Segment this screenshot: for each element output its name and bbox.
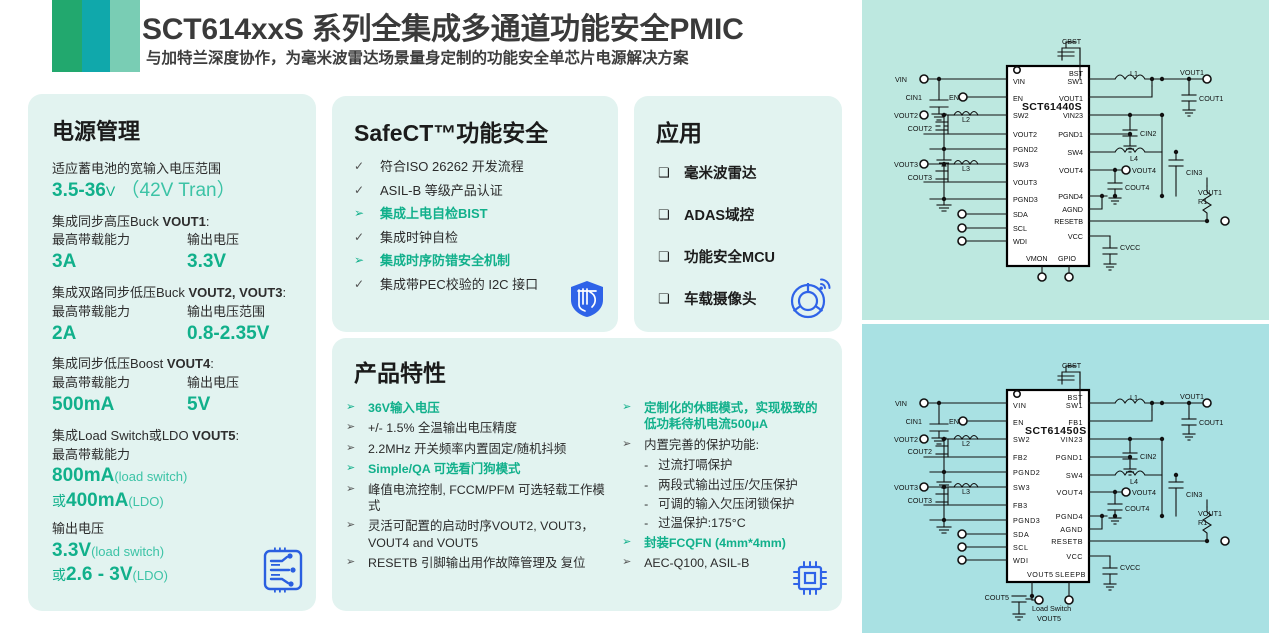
application-item-text: 毫米波雷达 (684, 162, 757, 183)
list-item: ➢灵活可配置的启动时序VOUT2, VOUT3，VOUT4 and VOUT5 (346, 518, 616, 551)
feature-text: 36V输入电压 (368, 400, 616, 416)
svg-text:WDI: WDI (1013, 556, 1028, 565)
svg-text:L2: L2 (962, 439, 970, 448)
feature-text: 封装FCQFN (4mm*4mm) (644, 535, 828, 551)
features-columns: ➢36V输入电压 ➢+/- 1.5% 全温输出电压精度 ➢2.2MHz 开关频率… (346, 400, 834, 575)
list-item: ➢集成时序防错安全机制 (354, 252, 606, 270)
vout5-voltage-ls-value: 3.3V (52, 540, 91, 561)
application-item-text: 功能安全MCU (684, 246, 775, 267)
arrow-icon: ➢ (346, 461, 368, 476)
page-subtitle: 与加特兰深度协作，为毫米波雷达场景量身定制的功能安全单芯片电源解决方案 (146, 46, 689, 68)
svg-text:VOUT2: VOUT2 (894, 111, 918, 120)
vout5-current-loadswitch: 800mA(load switch) (52, 464, 302, 489)
svg-text:PGND1: PGND1 (1056, 453, 1083, 462)
svg-text:AGND: AGND (1062, 205, 1083, 214)
sub-item-text: 过流打嗝保护 (658, 457, 732, 473)
svg-text:FB3: FB3 (1013, 501, 1028, 510)
square-bullet-icon: ❑ (658, 165, 684, 181)
vout23-voltage-label: 输出电压范围 (187, 303, 302, 322)
svg-text:VIN: VIN (895, 75, 907, 84)
feature-text: 灵活可配置的启动时序VOUT2, VOUT3，VOUT4 and VOUT5 (368, 518, 616, 551)
arrow-icon: ➢ (346, 420, 368, 435)
power-group-input: 适应蓄电池的宽输入电压范围 3.5-36V （42V Tran） (52, 160, 302, 204)
vout4-current-value: 500mA (52, 393, 187, 418)
application-title: 应用 (656, 114, 702, 148)
list-item: ➢封装FCQFN (4mm*4mm) (622, 535, 828, 551)
vout5-current-ldo-prefix: 或 (52, 493, 66, 509)
svg-text:PGND4: PGND4 (1056, 512, 1083, 521)
feature-text: Simple/QA 可选看门狗模式 (368, 461, 616, 477)
svg-text:SDA: SDA (1013, 210, 1028, 219)
svg-text:PGND2: PGND2 (1013, 468, 1040, 477)
svg-text:R1: R1 (1198, 197, 1207, 206)
list-item: ➢定制化的休眠模式，实现极致的低功耗待机电流500μA (622, 400, 828, 433)
vout1-voltage-value: 3.3V (187, 250, 302, 275)
shield-icon (568, 279, 606, 324)
svg-text:RESETB: RESETB (1054, 217, 1083, 226)
svg-text:COUT1: COUT1 (1199, 94, 1223, 103)
check-icon: ✓ (354, 182, 380, 198)
panel-features: 产品特性 ➢36V输入电压 ➢+/- 1.5% 全温输出电压精度 ➢2.2MHz… (332, 338, 842, 611)
svg-text:VOUT5: VOUT5 (1037, 614, 1061, 623)
vout5-voltage-label: 输出电压 (52, 520, 302, 539)
svg-text:L4: L4 (1130, 154, 1138, 163)
arrow-icon: ➢ (354, 252, 380, 268)
list-item: ➢内置完善的保护功能: (622, 437, 828, 453)
vout5-current-ldo-note: (LDO) (128, 494, 163, 509)
safect-item-text: 集成上电自检BIST (380, 205, 488, 223)
check-icon: ✓ (354, 158, 380, 174)
svg-text:CIN1: CIN1 (906, 417, 922, 426)
vout5-voltage-ldo-prefix: 或 (52, 567, 66, 583)
svg-text:L4: L4 (1130, 477, 1138, 486)
svg-text:SCT61450S: SCT61450S (1025, 425, 1087, 437)
svg-text:CBST: CBST (1062, 361, 1082, 370)
svg-text:EN: EN (949, 93, 959, 102)
svg-text:CBST: CBST (1062, 37, 1082, 46)
vout1-current-value: 3A (52, 250, 187, 275)
arrow-icon: ➢ (622, 437, 644, 452)
diagram-sct61450s: VINENSW2 FB2PGND2SW3 FB3PGND3SDA SCLWDI … (862, 324, 1269, 633)
input-range-number: 3.5-36 (52, 180, 106, 201)
vout1-label-pre: 集成同步高压Buck (52, 214, 163, 229)
vout4-voltage-label: 输出电压 (187, 374, 302, 393)
vout23-label-pre: 集成双路同步低压Buck (52, 285, 189, 300)
vout4-current-label: 最高带载能力 (52, 374, 187, 393)
svg-text:CVCC: CVCC (1120, 563, 1140, 572)
svg-text:VOUT4: VOUT4 (1059, 166, 1083, 175)
power-management-title: 电源管理 (52, 114, 140, 146)
svg-text:VOUT4: VOUT4 (1132, 166, 1156, 175)
safect-item-text: ASIL-B 等级产品认证 (380, 182, 503, 200)
svg-text:RESETB: RESETB (1051, 537, 1083, 546)
power-group-vout23: 集成双路同步低压Buck VOUT2, VOUT3: 最高带载能力 2A 输出电… (52, 284, 302, 346)
brand-color-bars (52, 0, 140, 72)
vout23-current-value: 2A (52, 322, 187, 347)
dash-bullet: - (644, 457, 658, 473)
svg-text:VIN: VIN (1013, 77, 1025, 86)
svg-text:VOUT1: VOUT1 (1180, 392, 1204, 401)
vout1-label-bold: VOUT1 (163, 214, 206, 229)
power-group-vout1: 集成同步高压Buck VOUT1: 最高带载能力 3A 输出电压 3.3V (52, 213, 302, 275)
feature-text: 定制化的休眠模式，实现极致的低功耗待机电流500μA (644, 400, 828, 433)
svg-text:VOUT1: VOUT1 (1180, 68, 1204, 77)
svg-text:COUT4: COUT4 (1125, 504, 1149, 513)
list-item: ✓集成时钟自检 (354, 229, 606, 247)
chip-icon (790, 558, 830, 603)
vout5-current-ldo-value: 400mA (66, 490, 128, 511)
vout23-voltage-value: 0.8-2.35V (187, 322, 302, 347)
vout5-current-ls-value: 800mA (52, 465, 114, 486)
panel-application: 应用 ❑毫米波雷达 ❑ADAS域控 ❑功能安全MCU ❑车载摄像头 (634, 96, 842, 332)
panel-power-management: 电源管理 适应蓄电池的宽输入电压范围 3.5-36V （42V Tran） 集成… (28, 94, 316, 611)
svg-text:PGND3: PGND3 (1013, 516, 1040, 525)
svg-text:EN: EN (1013, 418, 1024, 427)
app-circuit-svg-top: VINENSW2 VOUT2PGND2SW3 VOUT3PGND3SDA SCL… (862, 0, 1269, 320)
input-range-value: 3.5-36V （42V Tran） (52, 179, 302, 204)
list-item: ➢集成上电自检BIST (354, 205, 606, 223)
svg-text:GPIO: GPIO (1058, 254, 1076, 263)
svg-text:L3: L3 (962, 487, 970, 496)
check-icon: ✓ (354, 229, 380, 245)
features-title: 产品特性 (354, 354, 446, 388)
svg-text:SW4: SW4 (1067, 148, 1083, 157)
list-item: ➢36V输入电压 (346, 400, 616, 416)
svg-text:PGND3: PGND3 (1013, 195, 1038, 204)
svg-text:VCC: VCC (1066, 552, 1083, 561)
safect-title: SafeCT™功能安全 (354, 114, 548, 148)
vout5-current-ldo: 或400mA(LDO) (52, 489, 302, 514)
diagram-sct61440s: VINENSW2 VOUT2PGND2SW3 VOUT3PGND3SDA SCL… (862, 0, 1269, 320)
vout4-label: 集成同步低压Boost VOUT4: (52, 355, 302, 374)
svg-text:SW1: SW1 (1067, 77, 1083, 86)
arrow-icon: ➢ (622, 535, 644, 550)
svg-text:COUT3: COUT3 (908, 173, 932, 182)
svg-text:L1: L1 (1130, 69, 1138, 78)
svg-text:SDA: SDA (1013, 530, 1029, 539)
svg-text:CVCC: CVCC (1120, 243, 1140, 252)
svg-text:COUT1: COUT1 (1199, 418, 1223, 427)
vout23-current-label: 最高带载能力 (52, 303, 187, 322)
square-bullet-icon: ❑ (658, 291, 684, 307)
sub-item-text: 两段式输出过压/欠压保护 (658, 477, 798, 493)
vout4-voltage-value: 5V (187, 393, 302, 418)
svg-text:VOUT3: VOUT3 (1013, 178, 1037, 187)
svg-text:VOUT1: VOUT1 (1198, 188, 1222, 197)
svg-text:EN: EN (949, 417, 959, 426)
sub-item: -过流打嗝保护 (622, 457, 828, 473)
brand-bar-green (52, 0, 82, 72)
safect-item-text: 集成时钟自检 (380, 229, 458, 247)
dash-bullet: - (644, 477, 658, 493)
page-title: SCT614xxS 系列全集成多通道功能安全PMIC (142, 4, 744, 48)
arrow-icon: ➢ (346, 555, 368, 570)
svg-text:VOUT2: VOUT2 (1013, 130, 1037, 139)
svg-text:VOUT2: VOUT2 (894, 435, 918, 444)
svg-text:SLEEPB: SLEEPB (1055, 570, 1086, 579)
sub-item: -过温保护:175°C (622, 515, 828, 531)
vout5-label-post: : (236, 428, 240, 443)
power-management-body: 适应蓄电池的宽输入电压范围 3.5-36V （42V Tran） 集成同步高压B… (52, 160, 302, 597)
list-item: ✓符合ISO 26262 开发流程 (354, 158, 606, 176)
vout5-label: 集成Load Switch或LDO VOUT5: (52, 427, 302, 446)
svg-text:SW1: SW1 (1066, 401, 1083, 410)
feature-text: 内置完善的保护功能: (644, 437, 828, 453)
feature-text: 峰值电流控制, FCCM/PFM 可选轻载工作模式 (368, 482, 616, 515)
vout5-current-label: 最高带载能力 (52, 446, 302, 465)
vout5-label-bold: VOUT5 (192, 428, 235, 443)
vout23-label-post: : (282, 285, 286, 300)
vout4-label-pre: 集成同步低压Boost (52, 356, 167, 371)
svg-text:WDI: WDI (1013, 237, 1027, 246)
dash-bullet: - (644, 496, 658, 512)
power-group-vout4: 集成同步低压Boost VOUT4: 最高带载能力 500mA 输出电压 5V (52, 355, 302, 417)
svg-text:VOUT5: VOUT5 (1027, 570, 1053, 579)
page-header: SCT614xxS 系列全集成多通道功能安全PMIC 与加特兰深度协作，为毫米波… (0, 0, 860, 92)
application-item-text: 车载摄像头 (684, 288, 757, 309)
svg-text:SW4: SW4 (1066, 471, 1083, 480)
svg-text:VCC: VCC (1068, 232, 1083, 241)
svg-text:COUT3: COUT3 (908, 496, 932, 505)
vout4-label-bold: VOUT4 (167, 356, 210, 371)
input-range-unit: V (106, 183, 115, 199)
svg-text:VOUT1: VOUT1 (1198, 509, 1222, 518)
svg-text:Load Switch: Load Switch (1032, 604, 1071, 613)
features-right-column: ➢定制化的休眠模式，实现极致的低功耗待机电流500μA ➢内置完善的保护功能: … (622, 400, 834, 575)
svg-text:CIN3: CIN3 (1186, 168, 1202, 177)
svg-text:VOUT4: VOUT4 (1057, 488, 1083, 497)
svg-text:PGND1: PGND1 (1058, 130, 1083, 139)
panel-safect: SafeCT™功能安全 ✓符合ISO 26262 开发流程 ✓ASIL-B 等级… (332, 96, 618, 332)
application-item-text: ADAS域控 (684, 204, 754, 225)
vout1-label-post: : (206, 214, 210, 229)
svg-text:COUT5: COUT5 (985, 593, 1009, 602)
svg-text:PGND4: PGND4 (1058, 192, 1083, 201)
svg-text:CIN2: CIN2 (1140, 452, 1156, 461)
vout4-label-post: : (210, 356, 214, 371)
input-range-extra: （42V Tran） (121, 180, 236, 201)
svg-text:VMON: VMON (1026, 254, 1048, 263)
svg-text:SW3: SW3 (1013, 160, 1029, 169)
list-item: ❑毫米波雷达 (658, 162, 832, 183)
steering-wheel-icon (788, 275, 832, 326)
sub-item-text: 可调的输入欠压闭锁保护 (658, 496, 794, 512)
list-item: ➢RESETB 引脚输出用作故障管理及 复位 (346, 555, 616, 571)
list-item: ❑功能安全MCU (658, 246, 832, 267)
list-item: ➢+/- 1.5% 全温输出电压精度 (346, 420, 616, 436)
feature-text: RESETB 引脚输出用作故障管理及 复位 (368, 555, 616, 571)
vout23-label-bold: VOUT2, VOUT3 (189, 285, 283, 300)
svg-text:VIN: VIN (1013, 401, 1026, 410)
sub-item: -两段式输出过压/欠压保护 (622, 477, 828, 493)
svg-text:L3: L3 (962, 164, 970, 173)
svg-text:COUT2: COUT2 (908, 447, 932, 456)
list-item: ❑ADAS域控 (658, 204, 832, 225)
sub-item: -可调的输入欠压闭锁保护 (622, 496, 828, 512)
brand-bar-teal (82, 0, 110, 72)
list-item: ✓ASIL-B 等级产品认证 (354, 182, 606, 200)
vout5-current-ls-note: (load switch) (114, 469, 187, 484)
square-bullet-icon: ❑ (658, 207, 684, 223)
list-item: ➢2.2MHz 开关频率内置固定/随机抖频 (346, 441, 616, 457)
svg-text:CIN2: CIN2 (1140, 129, 1156, 138)
svg-text:AGND: AGND (1060, 525, 1083, 534)
vout1-voltage-label: 输出电压 (187, 231, 302, 250)
svg-text:COUT4: COUT4 (1125, 183, 1149, 192)
svg-text:VOUT4: VOUT4 (1132, 488, 1156, 497)
safect-item-text: 集成时序防错安全机制 (380, 252, 510, 270)
svg-text:L1: L1 (1130, 393, 1138, 402)
svg-text:SW3: SW3 (1013, 483, 1030, 492)
list-item: ➢Simple/QA 可选看门狗模式 (346, 461, 616, 477)
vout5-voltage-ls-note: (load switch) (91, 544, 164, 559)
svg-text:SCT61440S: SCT61440S (1022, 101, 1082, 113)
pcb-icon (260, 546, 306, 599)
svg-text:SCL: SCL (1013, 543, 1028, 552)
svg-text:PGND2: PGND2 (1013, 145, 1038, 154)
features-left-column: ➢36V输入电压 ➢+/- 1.5% 全温输出电压精度 ➢2.2MHz 开关频率… (346, 400, 622, 575)
feature-text: 2.2MHz 开关频率内置固定/随机抖频 (368, 441, 616, 457)
svg-text:SCL: SCL (1013, 224, 1027, 233)
arrow-icon: ➢ (346, 482, 368, 497)
dash-bullet: - (644, 515, 658, 531)
svg-text:FB2: FB2 (1013, 453, 1028, 462)
vout5-label-pre: 集成Load Switch或LDO (52, 428, 192, 443)
arrow-icon: ➢ (346, 441, 368, 456)
svg-text:CIN1: CIN1 (906, 93, 922, 102)
svg-text:VOUT3: VOUT3 (894, 483, 918, 492)
sub-item-text: 过温保护:175°C (658, 515, 746, 531)
vout1-label: 集成同步高压Buck VOUT1: (52, 213, 302, 232)
arrow-icon: ➢ (622, 555, 644, 570)
brand-bar-light (110, 0, 140, 72)
feature-text: +/- 1.5% 全温输出电压精度 (368, 420, 616, 436)
svg-text:VOUT3: VOUT3 (894, 160, 918, 169)
arrow-icon: ➢ (354, 205, 380, 221)
arrow-icon: ➢ (346, 400, 368, 415)
safect-item-text: 符合ISO 26262 开发流程 (380, 158, 524, 176)
svg-text:COUT2: COUT2 (908, 124, 932, 133)
svg-text:CIN3: CIN3 (1186, 490, 1202, 499)
vout23-label: 集成双路同步低压Buck VOUT2, VOUT3: (52, 284, 302, 303)
vout1-current-label: 最高带载能力 (52, 231, 187, 250)
app-circuit-svg-bottom: VINENSW2 FB2PGND2SW3 FB3PGND3SDA SCLWDI … (862, 324, 1269, 633)
square-bullet-icon: ❑ (658, 249, 684, 265)
svg-text:L2: L2 (962, 115, 970, 124)
arrow-icon: ➢ (346, 518, 368, 533)
arrow-icon: ➢ (622, 400, 644, 415)
list-item: ➢峰值电流控制, FCCM/PFM 可选轻载工作模式 (346, 482, 616, 515)
vout5-voltage-ldo-note: (LDO) (133, 568, 168, 583)
svg-text:R1: R1 (1198, 518, 1207, 527)
safect-item-text: 集成带PEC校验的 I2C 接口 (380, 276, 538, 294)
check-icon: ✓ (354, 276, 380, 292)
svg-text:VIN: VIN (895, 399, 907, 408)
input-range-label: 适应蓄电池的宽输入电压范围 (52, 160, 302, 179)
vout5-voltage-ldo-value: 2.6 - 3V (66, 564, 133, 585)
